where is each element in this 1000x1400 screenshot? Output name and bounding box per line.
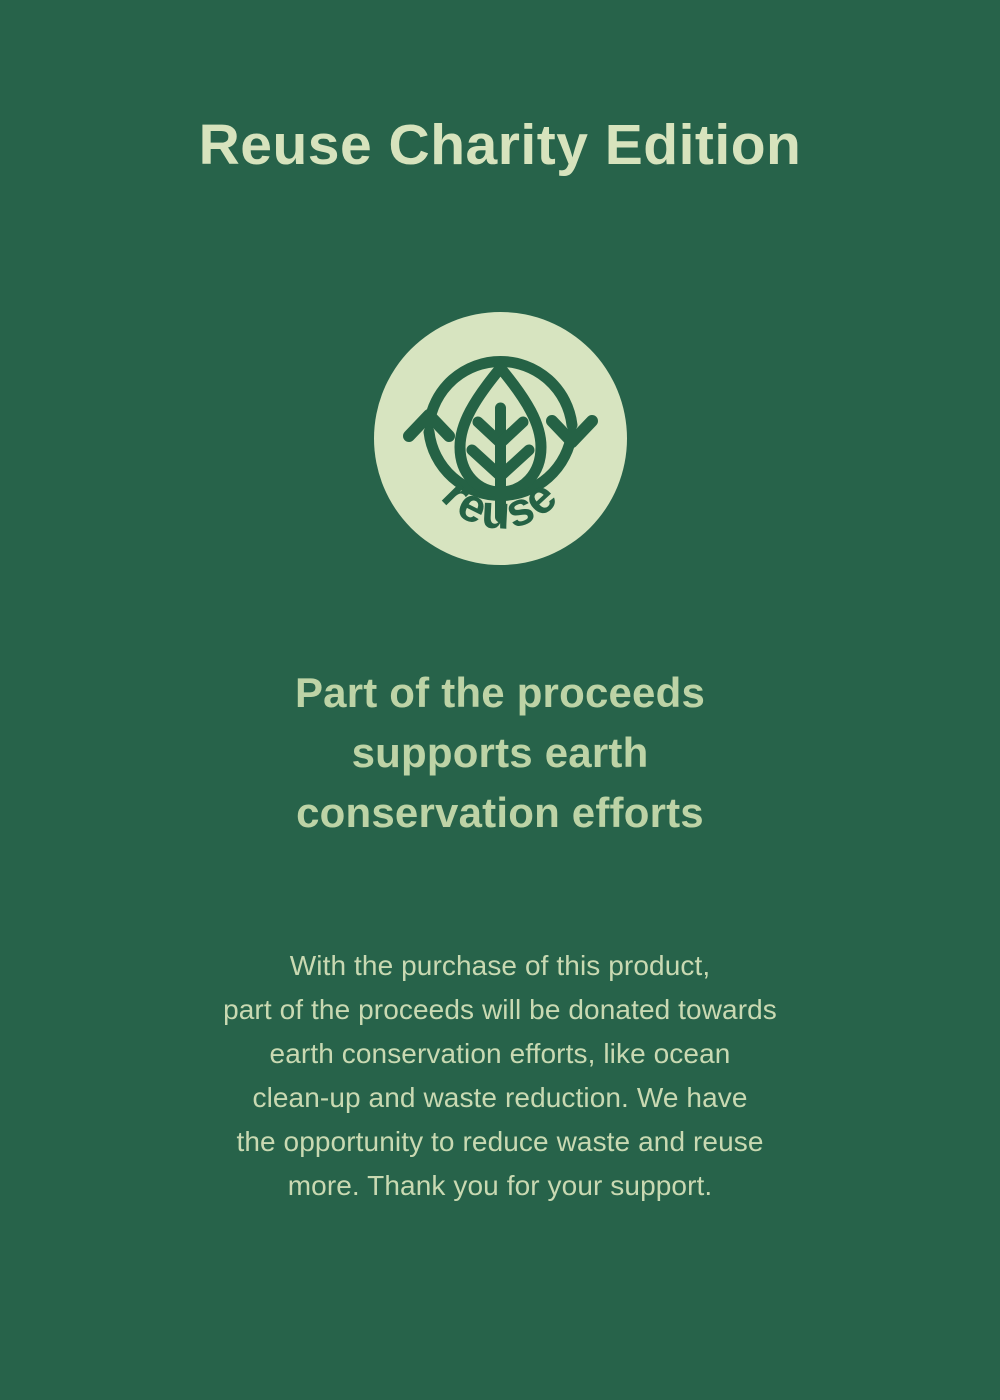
body-line-6: more. Thank you for your support.: [0, 1164, 1000, 1208]
body-copy: With the purchase of this product, part …: [0, 944, 1000, 1208]
reuse-badge: reuse: [374, 312, 627, 565]
headline-line-1: Part of the proceeds: [0, 663, 1000, 723]
body-line-4: clean-up and waste reduction. We have: [0, 1076, 1000, 1120]
charity-edition-poster: Reuse Charity Edition: [0, 0, 1000, 1400]
headline-line-2: supports earth: [0, 723, 1000, 783]
body-line-5: the opportunity to reduce waste and reus…: [0, 1120, 1000, 1164]
headline: Part of the proceeds supports earth cons…: [0, 663, 1000, 843]
body-line-1: With the purchase of this product,: [0, 944, 1000, 988]
body-line-3: earth conservation efforts, like ocean: [0, 1032, 1000, 1076]
reuse-recycle-leaf-logo-icon: reuse: [374, 312, 627, 565]
body-line-2: part of the proceeds will be donated tow…: [0, 988, 1000, 1032]
page-title: Reuse Charity Edition: [0, 112, 1000, 179]
headline-line-3: conservation efforts: [0, 783, 1000, 843]
